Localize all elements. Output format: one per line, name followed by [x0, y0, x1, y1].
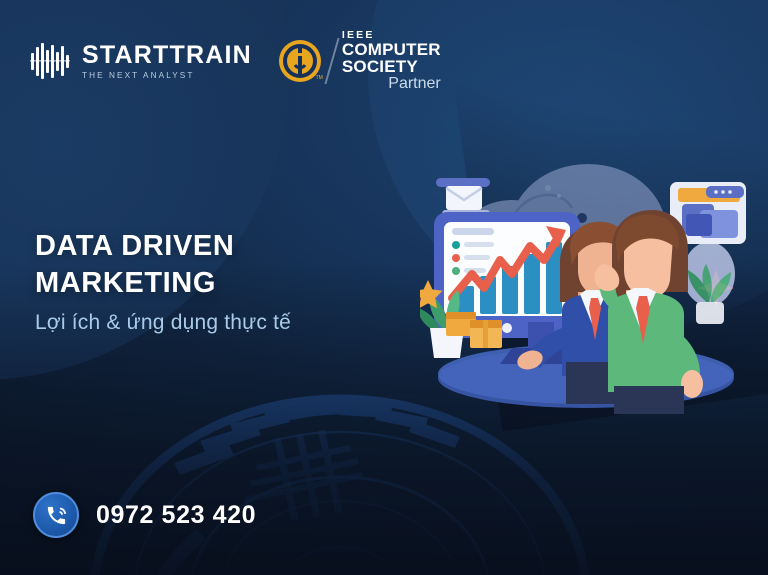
envelope-icon	[436, 178, 490, 217]
starttrain-tagline: THE NEXT ANALYST	[82, 72, 252, 80]
computer-label: COMPUTER	[342, 41, 441, 58]
society-label: SOCIETY	[342, 58, 441, 75]
starttrain-wordmark: STARTTRAIN	[82, 43, 252, 68]
equalizer-bars-icon	[30, 41, 70, 81]
data-analytics-team-illustration	[420, 152, 760, 414]
headline-subtitle: Lợi ích & ứng dụng thực tế	[35, 311, 291, 335]
ieee-computer-society-partner-logo[interactable]: TM IEEE COMPUTER SOCIETY Partner	[278, 30, 441, 93]
partner-label: Partner	[342, 76, 441, 92]
divider-slash	[324, 38, 339, 84]
starttrain-logo[interactable]: STARTTRAIN THE NEXT ANALYST	[30, 41, 252, 81]
ieee-computer-society-seal-icon: TM	[278, 39, 322, 83]
headline-block: DATA DRIVEN MARKETING Lợi ích & ứng dụng…	[35, 228, 291, 335]
logo-row: STARTTRAIN THE NEXT ANALYST TM IEEE COMP…	[30, 30, 441, 93]
headline-line-2: MARKETING	[35, 265, 291, 302]
headline-line-1: DATA DRIVEN	[35, 228, 291, 265]
trademark-mark: TM	[316, 75, 323, 81]
contact-phone[interactable]: 0972 523 420	[33, 492, 256, 538]
phone-call-icon[interactable]	[33, 492, 79, 538]
promo-banner: STARTTRAIN THE NEXT ANALYST TM IEEE COMP…	[0, 0, 768, 575]
phone-number[interactable]: 0972 523 420	[96, 501, 256, 530]
